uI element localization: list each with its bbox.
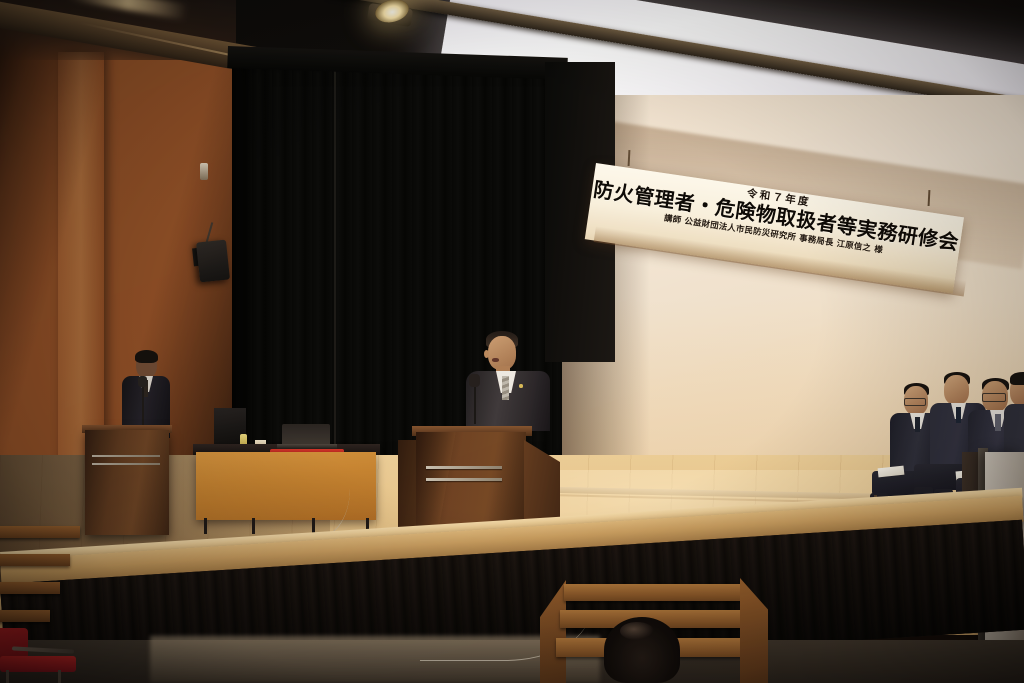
stage-curtain-seam xyxy=(334,58,336,470)
left-stairs-step-4 xyxy=(0,610,50,622)
main-speaker xyxy=(466,330,550,430)
red-folding-chair[interactable] xyxy=(0,628,82,683)
official3-glasses-icon xyxy=(982,393,1006,402)
main-speaker-ear xyxy=(484,350,489,358)
photo-scene: 令和７年度 防火管理者・危険物取扱者等実務研修会 講師 公益財団法人市民防災研究… xyxy=(0,0,1024,683)
wall-mounted-loudspeaker-icon xyxy=(196,240,230,283)
attendant-hair xyxy=(135,350,158,363)
official4-hair xyxy=(1010,372,1024,385)
official2-tie xyxy=(956,407,961,423)
main-podium-mic-icon xyxy=(469,374,480,387)
chair-leg-front xyxy=(6,670,9,683)
official3-tie xyxy=(995,414,1001,431)
chair-seat xyxy=(0,656,76,672)
left-stairs-step-2 xyxy=(0,554,70,566)
main-podium-trim-1 xyxy=(426,466,502,469)
official1-tie xyxy=(915,417,920,432)
official1-glasses-icon xyxy=(904,398,926,406)
main-speaker-head xyxy=(488,336,516,370)
center-stairs-step-1 xyxy=(564,584,744,601)
chair-leg-rear xyxy=(58,670,61,683)
left-stairs-step-1 xyxy=(0,526,80,538)
left-podium-mic-icon xyxy=(138,376,147,387)
lapel-pin-icon xyxy=(519,384,523,388)
center-stairs-side-right xyxy=(740,578,768,683)
audience-head-highlight xyxy=(620,622,654,640)
main-speaker-mouth xyxy=(492,358,499,362)
laptop-screen xyxy=(282,424,330,446)
stage-stairs-center xyxy=(540,572,840,683)
left-stairs-step-3 xyxy=(0,582,60,594)
official2-head xyxy=(944,375,969,405)
center-stairs-side-left xyxy=(540,580,566,683)
left-podium-mic-stem xyxy=(142,380,144,428)
main-speaker-tie xyxy=(502,376,509,400)
left-podium-trim-1 xyxy=(92,455,160,457)
main-podium-trim-2 xyxy=(426,478,502,481)
left-podium-trim-2 xyxy=(92,463,160,465)
wall-device-icon xyxy=(200,163,208,180)
